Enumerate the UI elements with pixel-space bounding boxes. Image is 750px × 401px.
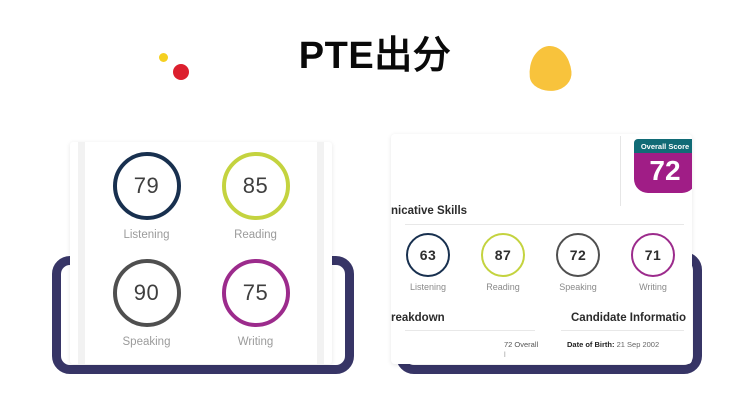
overall-score-subtext: l <box>504 350 506 359</box>
score-cell-speaking: 90 Speaking <box>113 259 181 348</box>
report-score-cell-listening: 63 Listening <box>393 233 463 292</box>
score-cell-reading: 85 Reading <box>222 152 290 241</box>
red-dot-icon <box>173 64 189 80</box>
card-edge-strip-left <box>78 142 85 364</box>
report-score-label-listening: Listening <box>393 282 463 292</box>
report-score-ring-speaking: 72 <box>556 233 600 277</box>
score-label-speaking: Speaking <box>113 336 181 348</box>
score-ring-row: 63 Listening 87 Reading 72 Speaking 71 <box>393 233 688 292</box>
report-score-ring-reading: 87 <box>481 233 525 277</box>
score-cell-listening: 79 Listening <box>113 152 181 241</box>
score-breakdown-heading: reakdown <box>391 312 445 324</box>
vertical-divider <box>620 136 621 206</box>
report-score-label-reading: Reading <box>468 282 538 292</box>
date-of-birth-label: Date of Birth: <box>567 340 615 349</box>
overall-score-badge: Overall Score 72 <box>634 139 692 193</box>
divider-breakdown <box>405 330 535 331</box>
score-ring-reading: 85 <box>222 152 290 220</box>
pte-score-report-card: Overall Score 72 nicative Skills 63 List… <box>391 134 692 364</box>
card-edge-strip-right <box>317 142 324 364</box>
page-title: PTE出分 <box>0 24 750 79</box>
report-score-label-writing: Writing <box>618 282 688 292</box>
score-ring-listening: 79 <box>113 152 181 220</box>
score-value-writing: 75 <box>243 280 268 306</box>
report-score-ring-writing: 71 <box>631 233 675 277</box>
overall-score-badge-value: 72 <box>634 153 692 193</box>
score-ring-writing: 75 <box>222 259 290 327</box>
score-ring-grid: 79 Listening 85 Reading 90 Speaking 75 <box>92 152 310 348</box>
screenshot-root: PTE出分 79 Listening 85 Reading <box>0 0 750 401</box>
divider-communicative <box>405 224 684 225</box>
communicative-skills-heading: nicative Skills <box>391 205 467 217</box>
yellow-dot-icon <box>159 53 168 62</box>
report-score-value-writing: 71 <box>645 247 662 263</box>
score-cell-writing: 75 Writing <box>222 259 290 348</box>
overall-score-badge-label: Overall Score <box>634 139 692 153</box>
score-ring-speaking: 90 <box>113 259 181 327</box>
overall-score-text: 72 Overall <box>504 340 538 349</box>
report-score-cell-reading: 87 Reading <box>468 233 538 292</box>
report-score-ring-listening: 63 <box>406 233 450 277</box>
score-value-speaking: 90 <box>134 280 159 306</box>
report-score-cell-writing: 71 Writing <box>618 233 688 292</box>
report-score-value-reading: 87 <box>495 247 512 263</box>
report-score-value-listening: 63 <box>420 247 437 263</box>
date-of-birth-row: Date of Birth: 21 Sep 2002 <box>567 340 659 349</box>
score-value-listening: 79 <box>134 173 159 199</box>
report-score-value-speaking: 72 <box>570 247 587 263</box>
report-score-label-speaking: Speaking <box>543 282 613 292</box>
score-value-reading: 85 <box>243 173 268 199</box>
divider-candidate <box>561 330 684 331</box>
report-score-cell-speaking: 72 Speaking <box>543 233 613 292</box>
score-label-listening: Listening <box>113 229 181 241</box>
pte-mobile-score-card: 79 Listening 85 Reading 90 Speaking 75 <box>70 142 332 364</box>
score-label-writing: Writing <box>222 336 290 348</box>
candidate-information-heading: Candidate Informatio <box>571 312 686 324</box>
score-label-reading: Reading <box>222 229 290 241</box>
date-of-birth-value: 21 Sep 2002 <box>617 340 660 349</box>
